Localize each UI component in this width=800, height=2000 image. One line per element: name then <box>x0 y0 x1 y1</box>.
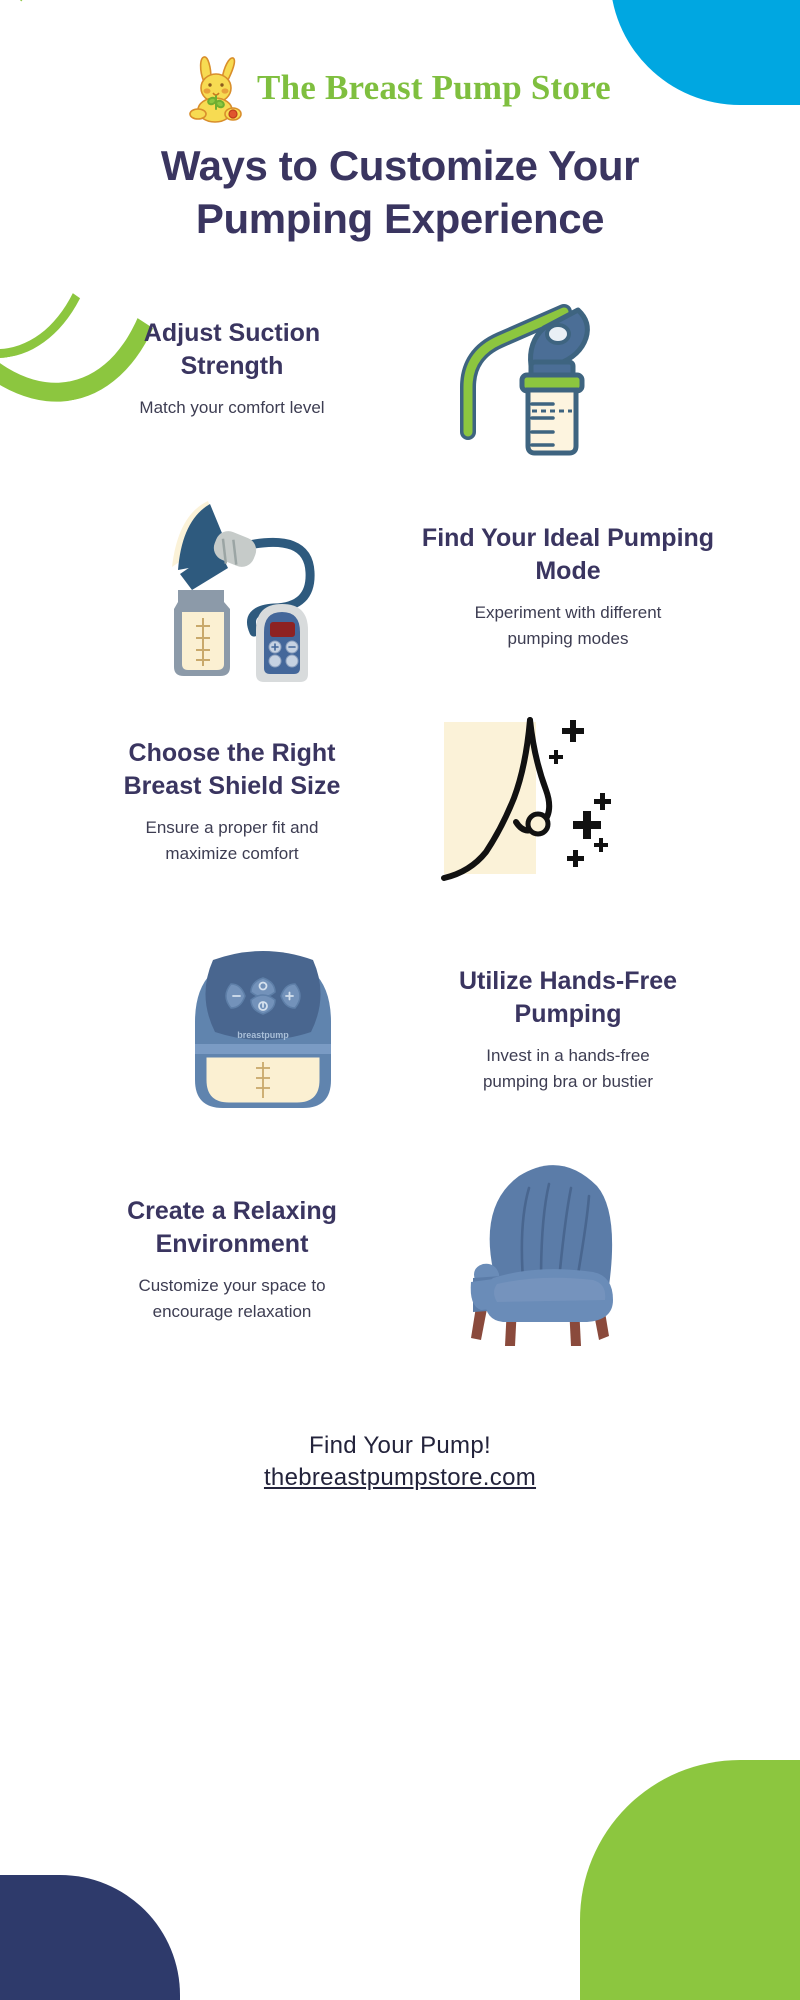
section-4-desc-line2: pumping bra or bustier <box>483 1072 653 1091</box>
section-4-title-line2: Pumping <box>515 1000 622 1028</box>
section-1-title-line1: Adjust Suction <box>144 319 320 347</box>
breast-silhouette-icon <box>442 712 632 892</box>
navy-blob-bottom-left-icon <box>0 1875 180 2000</box>
section-4-description: Invest in a hands-free pumping bra or bu… <box>378 1043 758 1096</box>
section-adjust-suction-strength: Adjust Suction Strength Match your comfo… <box>0 282 800 457</box>
section-5-illustration <box>422 1160 652 1360</box>
section-4-text: Utilize Hands-Free Pumping Invest in a h… <box>378 965 758 1096</box>
section-5-title-line1: Create a Relaxing <box>127 1197 337 1225</box>
section-2-description: Experiment with different pumping modes <box>378 600 758 653</box>
section-1-description: Match your comfort level <box>42 395 422 421</box>
section-2-title: Find Your Ideal Pumping Mode <box>378 522 758 588</box>
section-2-title-line1: Find Your Ideal Pumping <box>422 524 714 552</box>
section-4-desc-line1: Invest in a hands-free <box>486 1046 649 1065</box>
section-3-description: Ensure a proper fit and maximize comfort <box>42 815 422 868</box>
section-5-desc-line1: Customize your space to <box>138 1276 325 1295</box>
section-3-title-line2: Breast Shield Size <box>124 772 341 800</box>
brand-name: The Breast Pump Store <box>257 68 611 108</box>
page-title: Ways to Customize Your Pumping Experienc… <box>60 140 740 245</box>
section-3-text: Choose the Right Breast Shield Size Ensu… <box>42 737 422 868</box>
section-2-text: Find Your Ideal Pumping Mode Experiment … <box>378 522 758 653</box>
green-blob-bottom-right-icon <box>580 1760 800 2000</box>
electric-breast-pump-icon <box>158 482 368 692</box>
page-title-line2: Pumping Experience <box>196 195 604 242</box>
footer: Find Your Pump! thebreastpumpstore.com <box>0 1432 800 1492</box>
section-1-title-line2: Strength <box>181 352 284 380</box>
section-2-desc-line1: Experiment with different <box>475 603 662 622</box>
section-1-illustration <box>422 282 652 457</box>
section-3-desc-line1: Ensure a proper fit and <box>146 818 319 837</box>
section-1-title: Adjust Suction Strength <box>42 317 422 383</box>
section-3-desc-line2: maximize comfort <box>165 844 298 863</box>
section-4-title: Utilize Hands-Free Pumping <box>378 965 758 1031</box>
section-utilize-hands-free-pumping: Utilize Hands-Free Pumping Invest in a h… <box>0 940 800 1120</box>
section-2-title-line2: Mode <box>535 557 600 585</box>
infographic-canvas: The Breast Pump Store Ways to Customize … <box>0 0 800 2000</box>
section-2-illustration <box>148 482 378 692</box>
section-3-illustration <box>422 712 652 892</box>
section-1-text: Adjust Suction Strength Match your comfo… <box>42 317 422 421</box>
section-find-ideal-pumping-mode: Find Your Ideal Pumping Mode Experiment … <box>0 482 800 692</box>
wearable-pump-icon: breastpump <box>183 940 343 1120</box>
section-5-text: Create a Relaxing Environment Customize … <box>42 1195 422 1326</box>
section-5-title-line2: Environment <box>156 1230 309 1258</box>
section-3-title: Choose the Right Breast Shield Size <box>42 737 422 803</box>
section-4-title-line1: Utilize Hands-Free <box>459 967 677 995</box>
section-choose-breast-shield-size: Choose the Right Breast Shield Size Ensu… <box>0 712 800 892</box>
brand-logo[interactable]: The Breast Pump Store <box>0 52 800 124</box>
bunny-plush-icon <box>189 52 247 124</box>
armchair-icon <box>437 1160 637 1360</box>
section-5-title: Create a Relaxing Environment <box>42 1195 422 1261</box>
section-4-illustration: breastpump <box>148 940 378 1120</box>
section-5-desc-line2: encourage relaxation <box>153 1302 312 1321</box>
section-2-desc-line2: pumping modes <box>508 629 629 648</box>
page-title-line1: Ways to Customize Your <box>161 142 639 189</box>
section-create-relaxing-environment: Create a Relaxing Environment Customize … <box>0 1160 800 1360</box>
svg-text:breastpump: breastpump <box>237 1030 289 1040</box>
section-3-title-line1: Choose the Right <box>129 739 336 767</box>
manual-breast-pump-icon <box>452 282 622 457</box>
footer-website-link[interactable]: thebreastpumpstore.com <box>264 1464 536 1492</box>
section-5-description: Customize your space to encourage relaxa… <box>42 1273 422 1326</box>
footer-cta: Find Your Pump! <box>0 1432 800 1460</box>
